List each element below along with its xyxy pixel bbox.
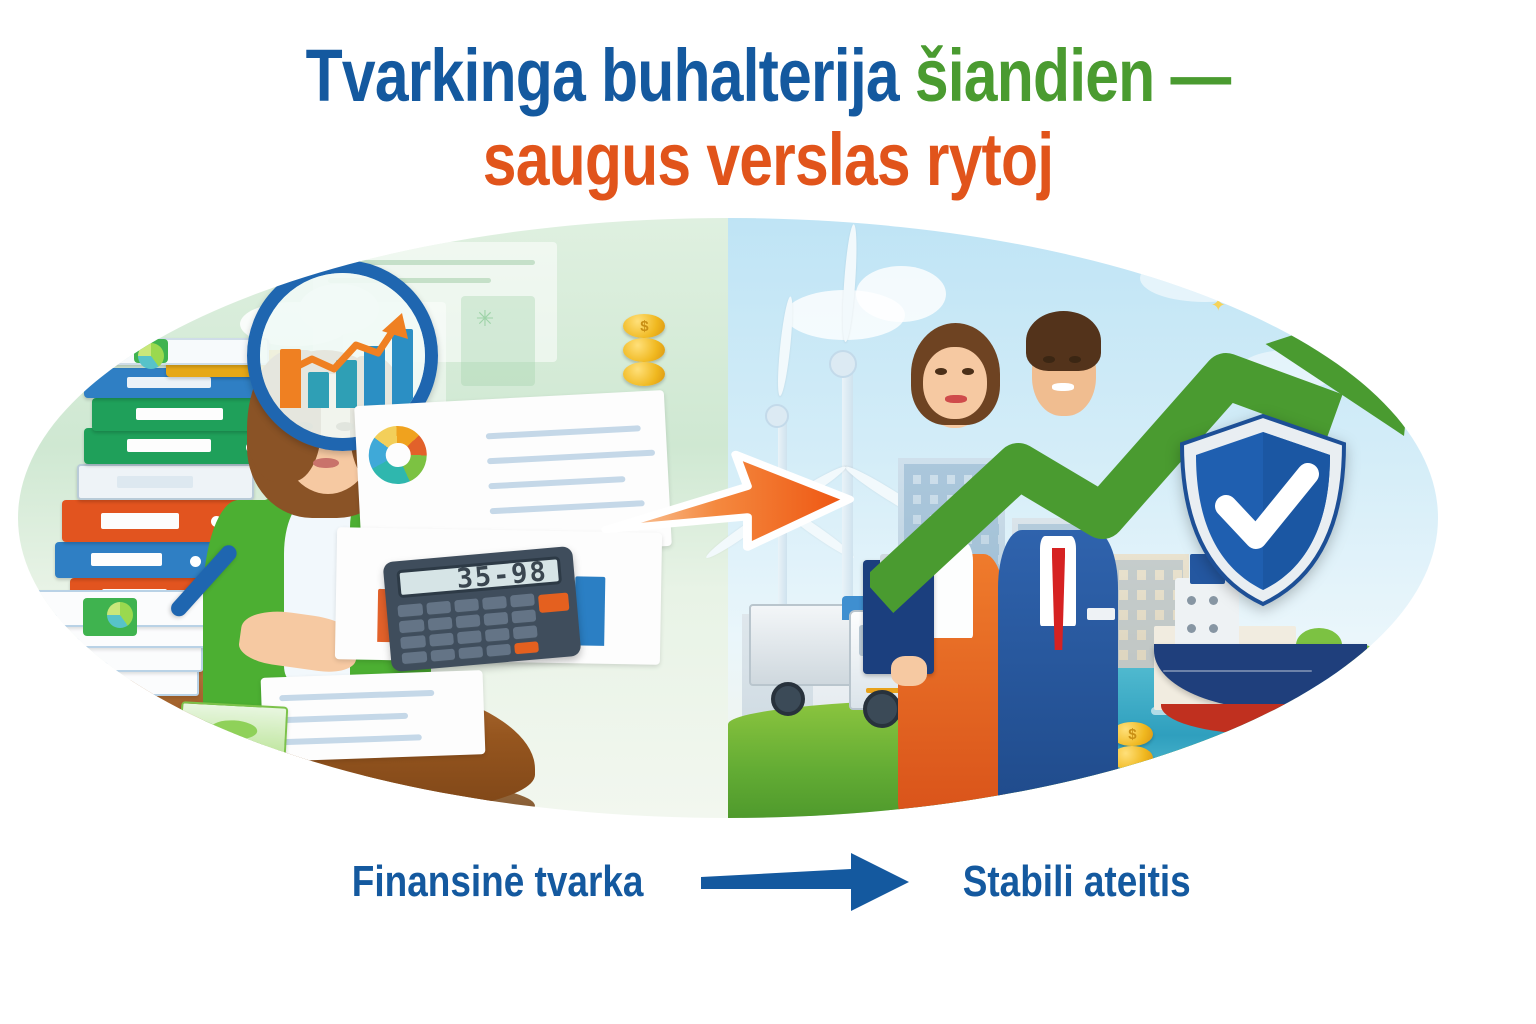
calculator-value: 35-98 <box>456 556 550 595</box>
pie-chart-icon <box>83 598 137 636</box>
truck-wheel <box>863 690 901 728</box>
sparkle-icon: ✦ <box>151 314 173 340</box>
calculator[interactable]: 35-98 <box>383 546 582 672</box>
backdrop-panel <box>461 296 535 386</box>
truck-wheel <box>771 682 805 716</box>
orange-transition-arrow <box>600 440 856 560</box>
loose-paper <box>260 670 484 762</box>
title-line-1: Tvarkinga buhalterija šiandien — <box>138 34 1398 118</box>
right-arrow-icon <box>701 851 911 913</box>
coin: $ <box>623 314 665 338</box>
illustration-oval: ✦ ✦ ✳ <box>18 218 1438 818</box>
tree <box>1374 640 1410 668</box>
title-part-blue: Tvarkinga buhalterija <box>306 34 915 117</box>
binder-white <box>77 464 254 500</box>
coin: $ <box>1154 774 1198 800</box>
poster-canvas: Tvarkinga buhalterija šiandien — saugus … <box>0 0 1536 1024</box>
banknote <box>179 701 289 759</box>
wind-turbine-hub <box>829 350 857 378</box>
paper-text-line <box>486 426 641 440</box>
title-block: Tvarkinga buhalterija šiandien — saugus … <box>0 34 1536 202</box>
binder-top-report <box>107 338 269 365</box>
calculator-display: 35-98 <box>397 556 562 599</box>
woman-hand <box>891 656 927 686</box>
sparkle-icon: ✳ <box>476 308 494 330</box>
calculator-accent-key[interactable] <box>538 593 570 613</box>
title-line-2: saugus verslas rytoj <box>138 118 1398 202</box>
caption-right-label: Stabili ateitis <box>963 857 1191 907</box>
donut-chart <box>367 424 428 485</box>
caption-left-label: Finansinė tvarka <box>351 857 643 907</box>
accountant-mouth <box>313 458 339 468</box>
title-part-green: šiandien — <box>915 34 1231 117</box>
caption-row: Finansinė tvarka Stabili ateitis <box>0 842 1536 922</box>
binder-blue <box>55 542 217 578</box>
pie-chart-icon <box>134 339 168 363</box>
wind-turbine-hub <box>765 404 789 428</box>
calculator-keypad[interactable] <box>398 593 539 664</box>
shield-check-icon <box>1168 410 1358 610</box>
